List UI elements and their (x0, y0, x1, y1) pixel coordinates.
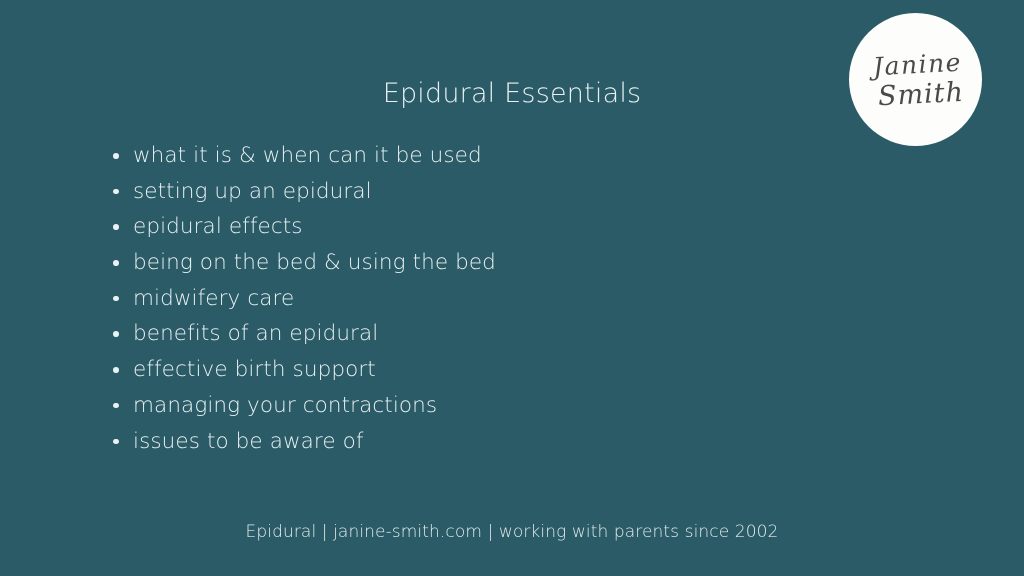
list-item: managing your contractions (110, 392, 810, 428)
list-item: what it is & when can it be used (110, 142, 810, 178)
brand-logo-badge: Janine Smith (849, 13, 982, 146)
list-item: setting up an epidural (110, 178, 810, 214)
list-item-label: effective birth support (133, 357, 376, 382)
list-item-label: setting up an epidural (133, 179, 372, 204)
list-item: benefits of an epidural (110, 320, 810, 356)
logo-first-name: Janine (872, 49, 962, 79)
logo-last-name: Smith (877, 78, 964, 109)
bullet-list: what it is & when can it be used setting… (110, 142, 810, 463)
presentation-slide: Epidural Essentials what it is & when ca… (0, 0, 1024, 576)
bullet-dot-icon (113, 439, 119, 445)
list-item: midwifery care (110, 285, 810, 321)
list-item-label: midwifery care (133, 286, 294, 311)
list-item-label: what it is & when can it be used (133, 143, 482, 168)
bullet-dot-icon (113, 296, 119, 302)
bullet-dot-icon (113, 367, 119, 373)
bullet-dot-icon (113, 153, 119, 159)
list-item-label: issues to be aware of (133, 429, 364, 454)
list-item-label: managing your contractions (133, 393, 437, 418)
bullet-dot-icon (113, 403, 119, 409)
bullet-dot-icon (113, 331, 119, 337)
bullet-dot-icon (113, 224, 119, 230)
bullet-dot-icon (113, 260, 119, 266)
list-item: being on the bed & using the bed (110, 249, 810, 285)
list-item-label: being on the bed & using the bed (133, 250, 496, 275)
list-item-label: epidural effects (133, 214, 303, 239)
bullet-dot-icon (113, 189, 119, 195)
list-item: issues to be aware of (110, 428, 810, 464)
list-item-label: benefits of an epidural (133, 321, 378, 346)
list-item: effective birth support (110, 356, 810, 392)
slide-footer: Epidural | janine-smith.com | working wi… (0, 521, 1024, 543)
list-item: epidural effects (110, 213, 810, 249)
